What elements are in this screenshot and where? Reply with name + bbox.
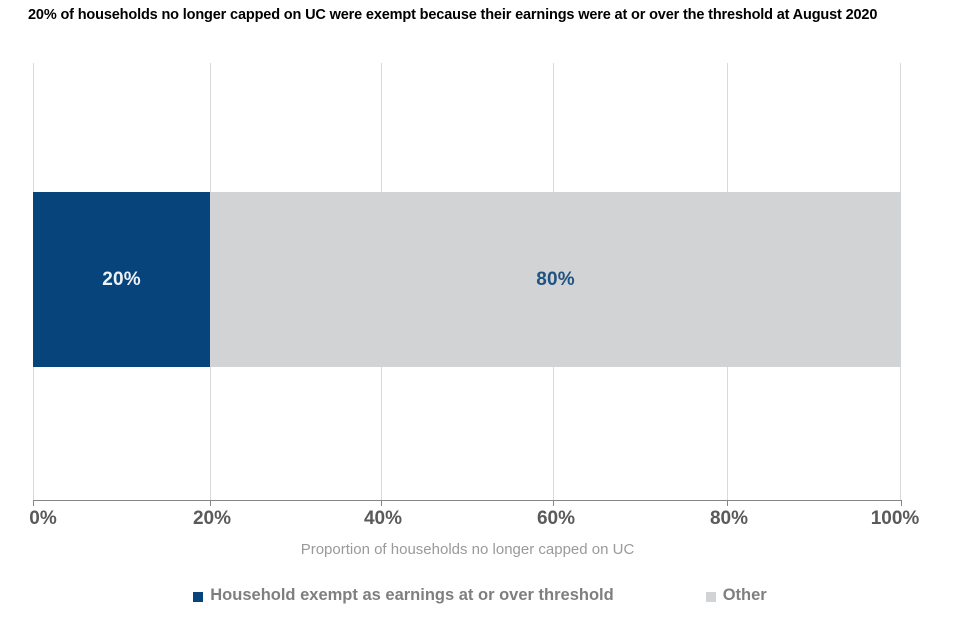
legend-swatch-icon-other	[706, 592, 716, 602]
bar-label-other: 80%	[536, 269, 575, 291]
x-tick-mark-80	[727, 500, 728, 506]
legend-item-other[interactable]: Other	[706, 586, 767, 605]
legend-label-other: Other	[723, 586, 767, 605]
x-tick-mark-60	[553, 500, 554, 506]
x-tick-label-80: 80%	[710, 508, 748, 530]
x-tick-label-40: 40%	[364, 508, 402, 530]
x-tick-label-20: 20%	[193, 508, 231, 530]
stacked-bar: 20% 80%	[33, 192, 901, 367]
x-tick-mark-40	[381, 500, 382, 506]
bar-segment-other[interactable]: 80%	[210, 192, 901, 367]
x-tick-label-100: 100%	[871, 508, 920, 530]
chart-title: 20% of households no longer capped on UC…	[28, 6, 938, 25]
bar-segment-exempt[interactable]: 20%	[33, 192, 210, 367]
chart-legend: Household exempt as earnings at or over …	[0, 586, 960, 605]
legend-swatch-icon-exempt	[193, 592, 203, 602]
x-axis-title: Proportion of households no longer cappe…	[33, 541, 902, 558]
x-tick-label-0: 0%	[29, 508, 56, 530]
plot-area: 20% 80%	[33, 63, 901, 500]
x-tick-label-60: 60%	[537, 508, 575, 530]
x-tick-mark-100	[901, 500, 902, 506]
legend-item-exempt[interactable]: Household exempt as earnings at or over …	[193, 586, 613, 605]
x-tick-mark-20	[210, 500, 211, 506]
bar-label-exempt: 20%	[102, 269, 141, 291]
x-axis-line	[33, 500, 902, 501]
x-tick-mark-0	[33, 500, 34, 506]
legend-label-exempt: Household exempt as earnings at or over …	[210, 586, 613, 605]
